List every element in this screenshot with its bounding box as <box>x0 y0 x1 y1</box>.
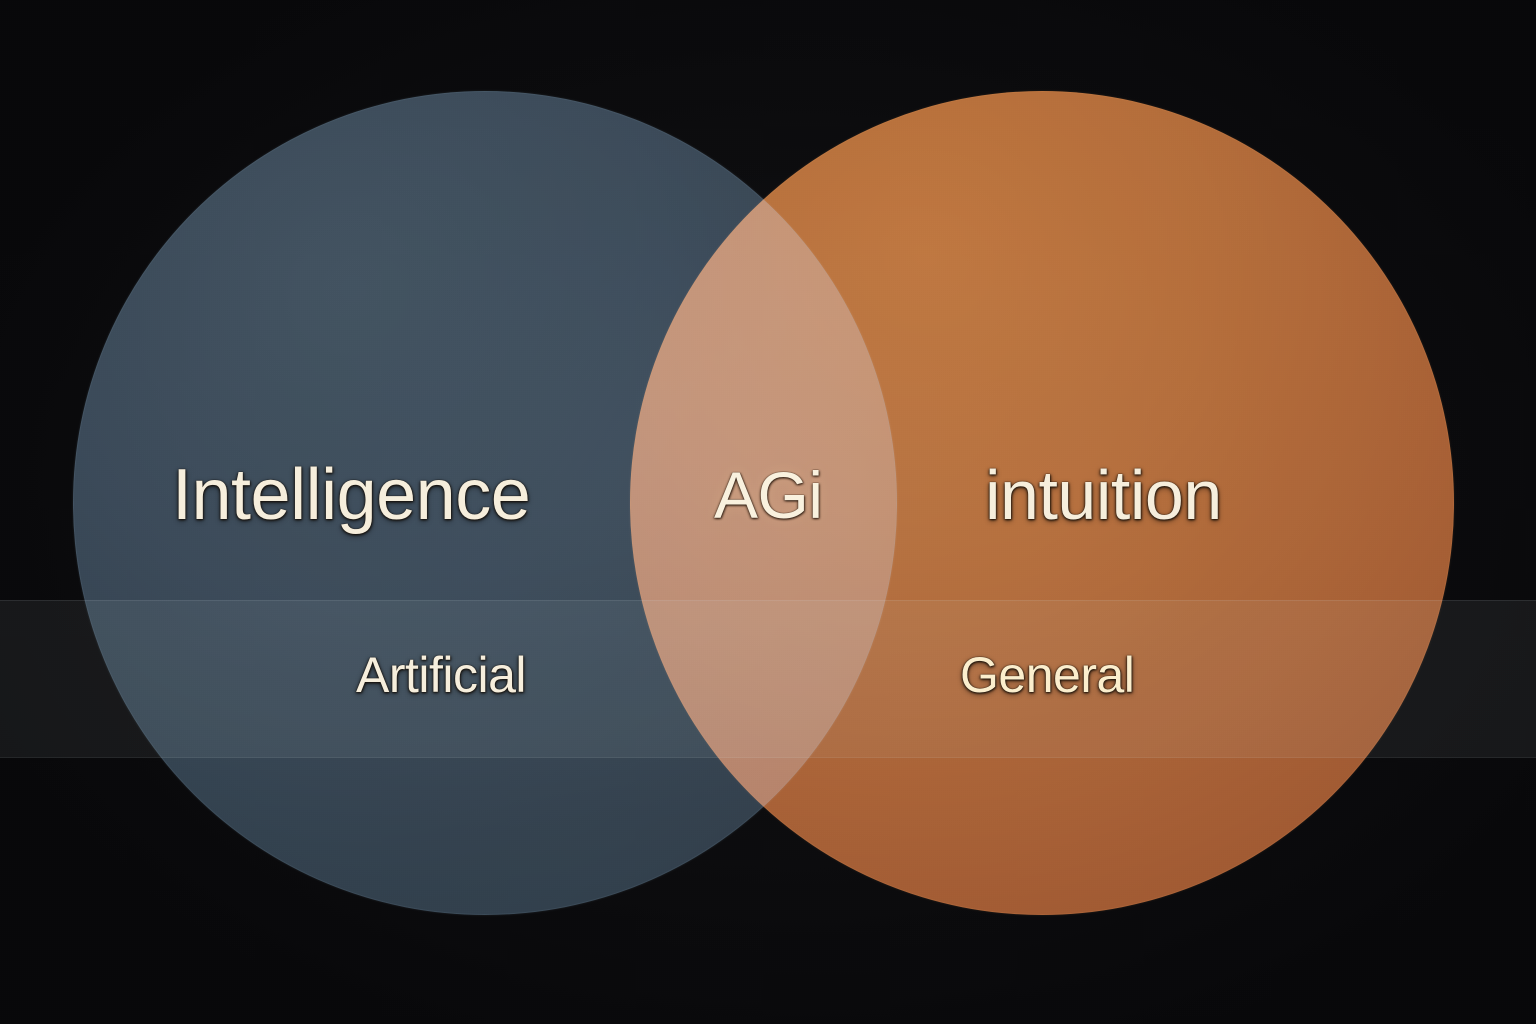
venn-diagram-canvas: Intelligence AGi intuition Artificial Ge… <box>0 0 1536 1024</box>
venn-circle-right-general-intuition <box>630 91 1454 915</box>
